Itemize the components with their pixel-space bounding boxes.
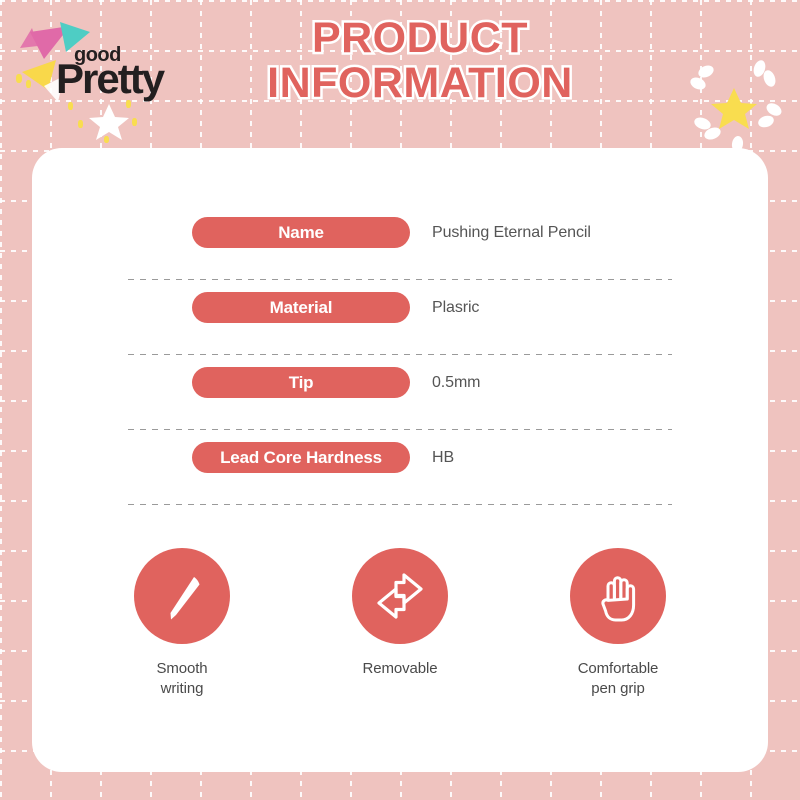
table-row: Tip 0.5mm bbox=[128, 355, 672, 430]
content-card: Name Pushing Eternal Pencil Material Pla… bbox=[32, 148, 768, 772]
feature-icon-circle bbox=[134, 548, 230, 644]
header: good Pretty bbox=[0, 0, 800, 148]
spec-label-pill: Material bbox=[192, 292, 410, 323]
spec-label-pill: Lead Core Hardness bbox=[192, 442, 410, 473]
hand-icon bbox=[591, 567, 645, 625]
feature-list: Smoothwriting Removable bbox=[92, 548, 708, 700]
feature-icon-circle bbox=[570, 548, 666, 644]
feature-label: Comfortablepen grip bbox=[528, 659, 708, 700]
table-row: Name Pushing Eternal Pencil bbox=[128, 205, 672, 280]
spec-value: Plasric bbox=[432, 292, 479, 323]
table-row: Material Plasric bbox=[128, 280, 672, 355]
page-title-line-2: INFORMATION bbox=[210, 61, 630, 106]
table-row: Lead Core Hardness HB bbox=[128, 430, 672, 505]
spec-label-pill: Name bbox=[192, 217, 410, 248]
feature-item-removable: Removable bbox=[310, 548, 490, 700]
swap-arrows-icon bbox=[371, 567, 429, 625]
feature-label: Removable bbox=[310, 659, 490, 679]
page-title: PRODUCT INFORMATION bbox=[210, 16, 630, 105]
star-decoration-left bbox=[86, 98, 132, 147]
spec-value: HB bbox=[432, 442, 454, 473]
product-information-graphic: good Pretty bbox=[0, 0, 800, 800]
feature-label: Smoothwriting bbox=[92, 659, 272, 700]
spec-value: Pushing Eternal Pencil bbox=[432, 217, 591, 248]
spec-table: Name Pushing Eternal Pencil Material Pla… bbox=[128, 205, 672, 505]
feature-icon-circle bbox=[352, 548, 448, 644]
spec-label-pill: Tip bbox=[192, 367, 410, 398]
row-divider bbox=[128, 504, 672, 505]
logo-text-pretty: Pretty bbox=[56, 58, 163, 100]
pen-icon bbox=[154, 568, 210, 624]
feature-item-comfortable-grip: Comfortablepen grip bbox=[528, 548, 708, 700]
spec-value: 0.5mm bbox=[432, 367, 480, 398]
page-title-line-1: PRODUCT bbox=[210, 16, 630, 61]
feature-item-smooth-writing: Smoothwriting bbox=[92, 548, 272, 700]
